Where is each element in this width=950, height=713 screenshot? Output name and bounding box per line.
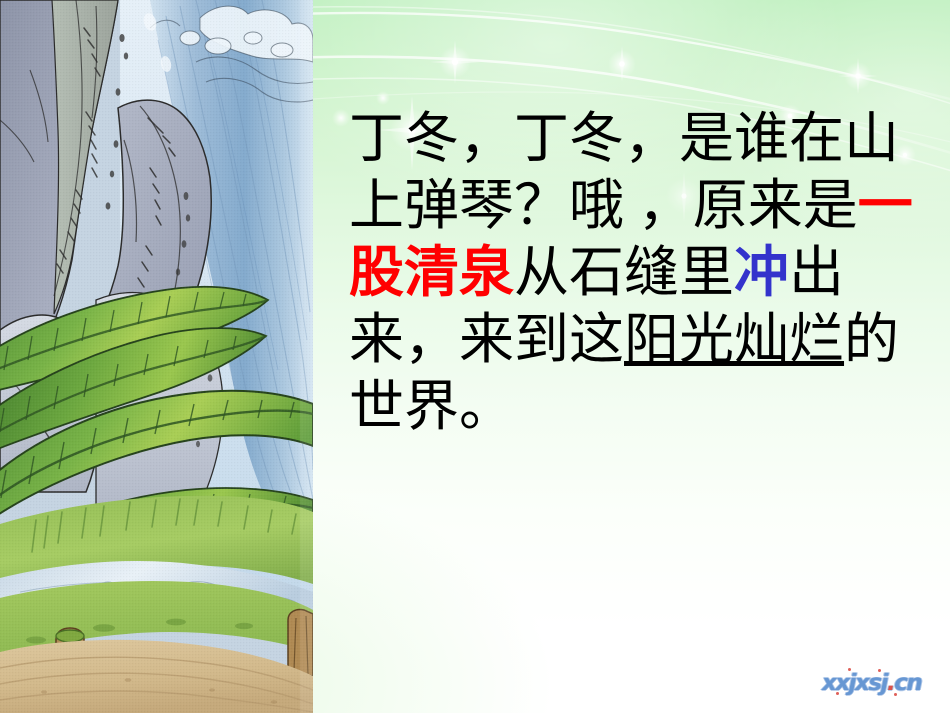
text-segment-underlined-sunlight: 阳光灿烂 (624, 309, 844, 370)
site-watermark: xxjxsj.cn (822, 668, 934, 698)
waterfall-cliff-illustration (0, 0, 313, 713)
text-segment-blue-chong: 冲 (734, 242, 789, 303)
presentation-slide: 丁冬，丁冬，是谁在山上弹琴？哦 ，原来是一股清泉从石缝里冲出来，来到这阳光灿烂的… (0, 0, 950, 713)
text-segment-plain-2: 从石缝里 (514, 242, 734, 303)
slide-body-text: 丁冬，丁冬，是谁在山上弹琴？哦 ，原来是一股清泉从石缝里冲出来，来到这阳光灿烂的… (349, 105, 941, 440)
watermark-prefix: xxjxsj (822, 670, 887, 696)
watermark-tld: cn (894, 670, 921, 696)
watermark-text: xxjxsj.cn (822, 672, 921, 695)
text-segment-plain-1: 丁冬，丁冬，是谁在山上弹琴？哦 ，原来是 (349, 108, 899, 236)
